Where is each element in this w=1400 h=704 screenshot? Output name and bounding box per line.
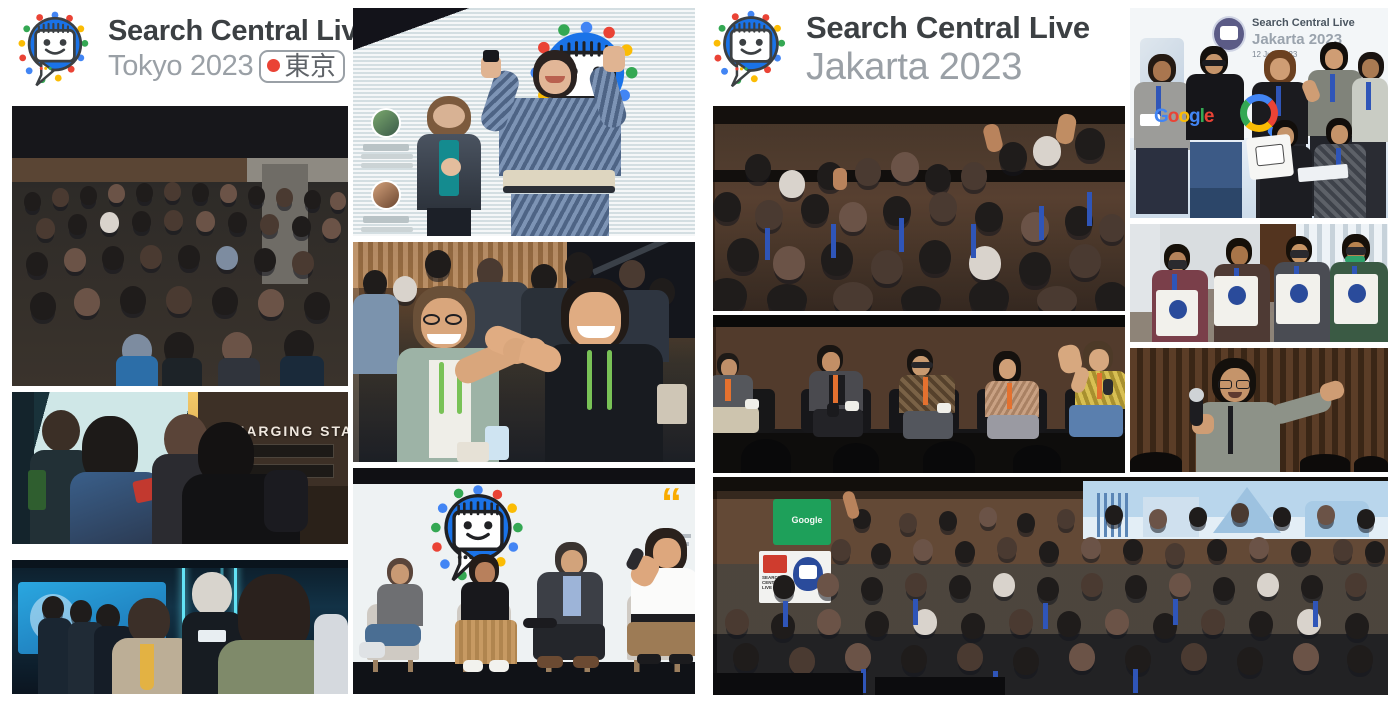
photo-scene — [1130, 348, 1388, 472]
photo-scene: Search Central Live Jakarta 2023 12 July… — [1130, 8, 1388, 218]
jakarta-event-logo: Search Central Live Jakarta 2023 — [709, 6, 1090, 92]
jakarta-audience-photo — [713, 106, 1125, 311]
audience-crowd — [12, 106, 348, 386]
jakarta-question-mic-photo — [1130, 348, 1388, 472]
jakarta-panel-discussion-photo — [713, 315, 1125, 473]
panelist-2-figure — [809, 345, 871, 437]
tokyo-heart-hands-photo — [353, 242, 695, 462]
tokyo-logo-line2: Tokyo 2023 — [108, 48, 253, 84]
tokyo-audience-group-photo — [12, 106, 348, 386]
photo-scene: “ — [353, 468, 695, 694]
quote-mark-icon: “ — [661, 486, 682, 520]
host-figure — [415, 96, 485, 236]
panelist-1-figure — [371, 558, 431, 662]
panelist-1-figure — [713, 353, 771, 437]
japan-flag-dot-icon — [267, 59, 280, 72]
google-cutout-prop: Google — [1154, 106, 1213, 128]
panelist-3-figure — [899, 349, 961, 439]
tokyo-logo-line1: Search Central Live — [108, 14, 373, 48]
collage-canvas: Search Central Live Tokyo 2023 東京 — [0, 0, 1400, 704]
tokyo-speaker-yukata-photo — [353, 8, 695, 236]
jakarta-logo-line1: Search Central Live — [806, 10, 1090, 46]
attendee-figure — [1134, 54, 1190, 218]
photo-scene: Google SEARCH CENTRAL LIVE — [713, 477, 1388, 695]
jakarta-backdrop-group-photo: Search Central Live Jakarta 2023 12 July… — [1130, 8, 1388, 218]
panelist-5-figure — [1067, 341, 1125, 437]
photo-scene — [713, 315, 1125, 473]
tokyo-logo-line2-row: Tokyo 2023 東京 — [108, 48, 373, 84]
photo-scene — [353, 8, 695, 236]
panelist-2-figure — [453, 554, 519, 664]
panelist-3-figure — [531, 542, 609, 664]
photo-scene — [1130, 224, 1388, 342]
photo-scene — [12, 560, 348, 694]
swag-bag-mascot-icon — [1290, 284, 1308, 303]
photo-scene — [12, 106, 348, 386]
tokyo-japan-badge: 東京 — [259, 50, 344, 83]
moderator-figure — [619, 528, 695, 664]
tokyo-badge-text: 東京 — [284, 53, 335, 79]
panelist-4-figure — [985, 351, 1047, 439]
tokyo-event-logo: Search Central Live Tokyo 2023 東京 — [14, 6, 373, 92]
heart-hands-gesture — [503, 334, 549, 376]
attendee-figure — [1184, 46, 1246, 218]
group-photo-crowd — [713, 477, 1388, 695]
tokyo-charging-station-photo: CHARGING STATION — [12, 392, 348, 544]
swag-bag-mascot-icon — [1228, 286, 1246, 305]
tokyo-networking-drinks-photo — [12, 560, 348, 694]
photo-scene — [353, 242, 695, 462]
search-central-live-mascot-icon — [14, 7, 96, 91]
photo-scene: CHARGING STATION — [12, 392, 348, 544]
jakarta-big-group-photo: Google SEARCH CENTRAL LIVE — [713, 477, 1388, 695]
swag-bag-mascot-icon — [1348, 284, 1366, 303]
backdrop-title: Search Central Live — [1252, 17, 1355, 29]
jakarta-logo-line2: Jakarta 2023 — [806, 46, 1090, 88]
jakarta-swag-bags-photo — [1130, 224, 1388, 342]
search-central-live-mascot-icon — [709, 6, 793, 92]
tokyo-panel-discussion-photo: “ — [353, 468, 695, 694]
attendee-right-figure — [541, 278, 687, 462]
swag-bag-mascot-icon — [1169, 300, 1187, 319]
speaker-figure — [481, 44, 641, 236]
photo-scene — [713, 106, 1125, 311]
